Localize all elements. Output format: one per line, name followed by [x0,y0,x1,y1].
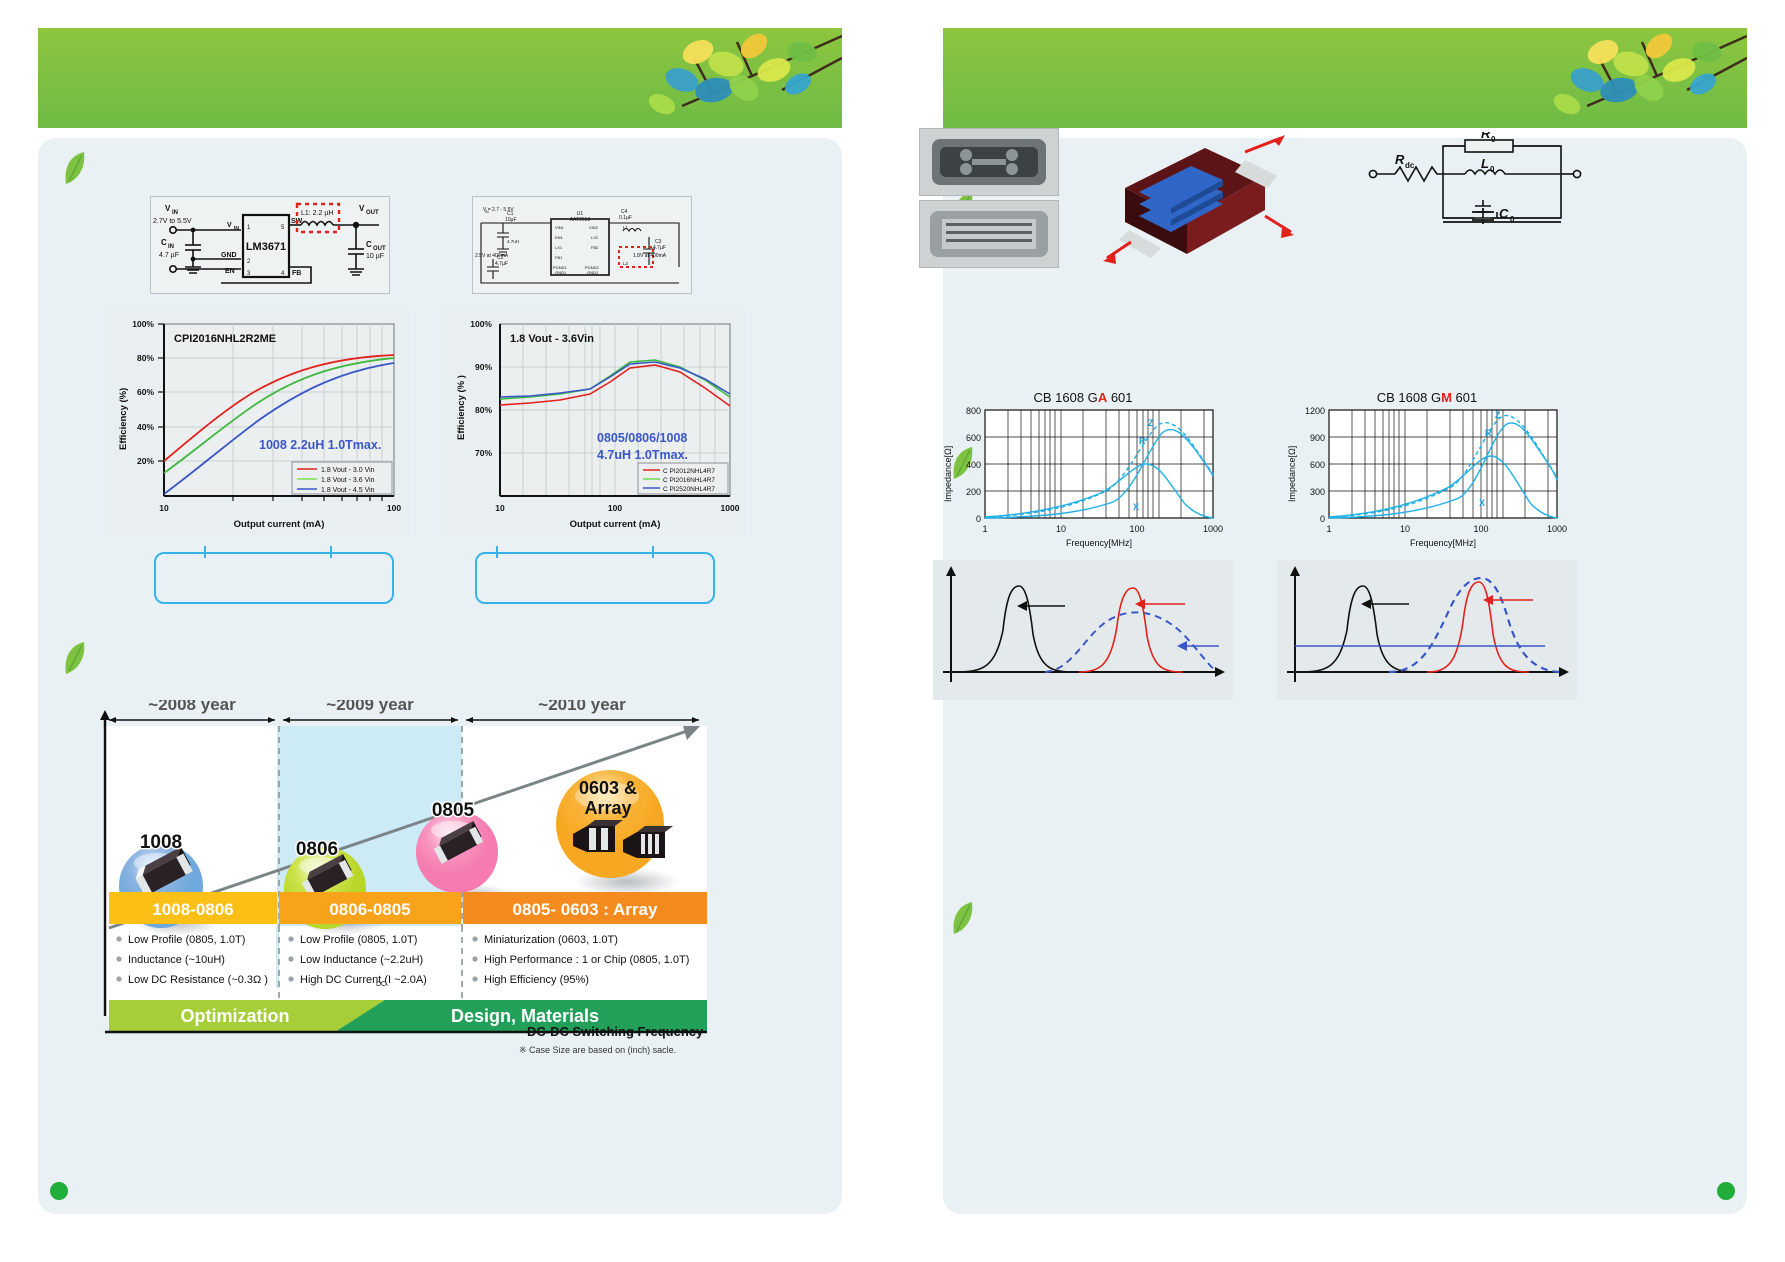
svg-text:Low Profile (0805, 1.0T): Low Profile (0805, 1.0T) [128,934,245,946]
roadmap-bubble-label-0805: 0805 [432,800,475,821]
svg-text:80%: 80% [475,405,492,415]
svg-text:600: 600 [1310,460,1325,470]
year-label-1: ~2008 year [148,700,236,714]
svg-text:4.7 µF: 4.7 µF [159,252,179,259]
svg-text:4.7µF: 4.7µF [495,261,508,267]
svg-text:GND1: GND1 [555,270,567,275]
roadmap-band-label-3: 0805- 0603 : Array [513,900,658,919]
leaf-icon-2 [62,640,88,678]
svg-text:High Efficiency (95%): High Efficiency (95%) [484,974,589,986]
roadmap-bubble-label-0806: 0806 [296,839,338,860]
equivalent-circuit-diagram: R dc R 0 L 0 C 0 [1365,132,1585,242]
svg-text:90%: 90% [475,362,492,372]
svg-text:OUT: OUT [373,246,386,252]
svg-text:60%: 60% [137,387,154,397]
svg-text:600: 600 [966,433,981,443]
page-dot-right [1717,1182,1735,1200]
efficiency-chart-4r7: 100%90%80%70% 101001000 Output current (… [440,310,746,535]
svg-text:0: 0 [1510,215,1515,224]
svg-text:Efficiency (%): Efficiency (%) [118,388,129,450]
svg-text:10µF: 10µF [505,217,517,223]
svg-text:1008 2.2uH 1.0Tmax.: 1008 2.2uH 1.0Tmax. [259,438,381,452]
svg-text:1: 1 [1326,524,1331,534]
svg-text:CB 1608 GM 601: CB 1608 GM 601 [1377,390,1477,405]
svg-text:GND2: GND2 [587,270,599,275]
svg-text:V: V [165,204,171,213]
svg-text:1.8 Vout - 3.6 Vin: 1.8 Vout - 3.6 Vin [321,477,375,484]
svg-text:Frequency[MHz]: Frequency[MHz] [1066,538,1132,548]
svg-text:1000: 1000 [1203,524,1223,534]
svg-text:100: 100 [1473,524,1488,534]
svg-text:Miniaturization (0603, 1.0T): Miniaturization (0603, 1.0T) [484,934,618,946]
svg-text:Output current (mA): Output current (mA) [570,519,661,530]
response-plot-right [1277,560,1577,700]
svg-text:C: C [161,238,167,247]
svg-text:10: 10 [159,503,169,513]
svg-text:400: 400 [966,460,981,470]
leaf-icon-5 [950,900,976,938]
svg-text:R: R [1395,152,1405,167]
svg-text:100: 100 [1129,524,1144,534]
svg-text:1.8 Vout - 3.0 Vin: 1.8 Vout - 3.0 Vin [321,467,375,474]
svg-text:Low DC Resistance (~0.3Ω ): Low DC Resistance (~0.3Ω ) [128,974,268,986]
circuit-diagram-lm3671: LM3671 1 2 3 4 5 V IN GND EN SW FB V IN … [150,196,390,294]
svg-text:V: V [359,204,365,213]
svg-text:20%: 20% [137,456,154,466]
foliage-decoration-right [1187,28,1747,128]
svg-text:X: X [1479,498,1485,508]
svg-text:FB: FB [292,270,301,277]
roadmap-bubble-label-1008: 1008 [140,832,182,853]
svg-text:DC: DC [376,981,386,988]
svg-text:0805/0806/1008: 0805/0806/1008 [597,431,687,445]
svg-text:1.8V at 400mA: 1.8V at 400mA [633,253,667,259]
svg-text:LM3671: LM3671 [246,241,286,253]
callout-tick-1a [204,546,206,558]
impedance-chart-GA601: CB 1608 GA 601 8006004002000 1101001000 … [933,390,1233,550]
svg-text:L1: 2.2 µH: L1: 2.2 µH [301,210,333,217]
page-dot-left [50,1182,68,1200]
component-photo-xray-top [919,128,1059,196]
svg-text:EN: EN [225,268,235,275]
roadmap-band-label-2: 0806-0805 [329,900,410,919]
svg-text:0: 0 [976,514,981,524]
svg-text:LX1: LX1 [555,245,563,250]
svg-text:L1: L1 [623,225,629,230]
impedance-chart-GM601: CB 1608 GM 601 12009006003000 1101001000… [1277,390,1577,550]
svg-text:Output current (mA): Output current (mA) [234,519,325,530]
roadmap-bubble-label-0603-l2: Array [584,798,631,818]
svg-text:C PI2520NHL4R7: C PI2520NHL4R7 [663,486,715,493]
foliage-decoration-left [282,28,842,128]
svg-text:4.7uH 1.0Tmax.: 4.7uH 1.0Tmax. [597,448,688,462]
roadmap-band-label-1: 1008-0806 [152,900,233,919]
svg-text:Frequency[MHz]: Frequency[MHz] [1410,538,1476,548]
svg-text:High DC Current (I ~2.0A): High DC Current (I ~2.0A) [300,974,427,986]
svg-text:Low Inductance (~2.2uH): Low Inductance (~2.2uH) [300,954,423,966]
svg-text:VIN1: VIN1 [555,225,565,230]
svg-text:AAT2610: AAT2610 [570,217,591,223]
roadmap-ribbon-label-2: Design, Materials [451,1006,599,1026]
svg-text:200: 200 [966,487,981,497]
svg-text:V: V [227,222,232,229]
svg-text:R: R [1139,436,1146,446]
svg-text:0: 0 [1320,514,1325,524]
svg-text:X: X [1133,502,1139,512]
svg-text:C: C [1499,206,1509,221]
response-plot-left [933,560,1233,700]
svg-text:OUT: OUT [366,210,379,216]
roadmap-footer-title: DC-DC Switching Frequency [527,1024,703,1039]
svg-text:L2: L2 [623,261,629,266]
roadmap-diagram: ~2008 year ~2009 year ~2010 year [95,700,715,1040]
svg-text:10: 10 [1400,524,1410,534]
roadmap-bullets-col-2: Low Profile (0805, 1.0T) Low Inductance … [288,934,426,988]
svg-text:2.5V at 400mA: 2.5V at 400mA [475,253,509,259]
roadmap-bubble-label-0603-l1: 0603 & [579,778,637,798]
svg-text:80%: 80% [137,353,154,363]
svg-text:LX2: LX2 [591,235,599,240]
roadmap-ribbon-label-1: Optimization [181,1006,290,1026]
svg-text:1000: 1000 [721,503,740,513]
svg-text:R: R [1485,428,1492,438]
svg-text:Impedance[Ω]: Impedance[Ω] [1287,446,1297,502]
svg-text:10: 10 [1056,524,1066,534]
header-band-right [943,28,1747,128]
svg-text:Z: Z [1148,418,1154,428]
svg-text:R: R [1481,132,1491,141]
svg-text:1000: 1000 [1547,524,1567,534]
header-band-left [38,28,842,128]
svg-text:dc: dc [1405,161,1415,170]
svg-text:4.7uH: 4.7uH [507,239,519,244]
callout-tick-2b [652,546,654,558]
svg-text:C PI2012NHL4R7: C PI2012NHL4R7 [663,468,715,475]
svg-text:10: 10 [495,503,505,513]
svg-text:100: 100 [387,503,401,513]
svg-text:100%: 100% [132,319,154,329]
svg-text:CPI2016NHL2R2ME: CPI2016NHL2R2ME [174,333,276,345]
svg-text:0: 0 [1491,135,1496,144]
svg-text:1: 1 [982,524,987,534]
svg-text:Z: Z [1495,410,1501,420]
svg-text:Inductance (~10uH): Inductance (~10uH) [128,954,225,966]
svg-text:40%: 40% [137,422,154,432]
svg-text:CB 1608 GA 601: CB 1608 GA 601 [1033,390,1132,405]
svg-text:Efficiency (% ): Efficiency (% ) [456,375,467,440]
svg-text:Low Profile (0805, 1.0T): Low Profile (0805, 1.0T) [300,934,417,946]
year-label-2: ~2009 year [326,700,414,714]
left-page: LM3671 1 2 3 4 5 V IN GND EN SW FB V IN … [0,0,880,1262]
component-cutaway-illustration [1095,130,1295,270]
svg-text:2.7V to 5.5V: 2.7V to 5.5V [153,218,192,225]
right-page: R dc R 0 L 0 C 0 CB 1608 GA 601 [905,0,1785,1262]
callout-tick-1b [330,546,332,558]
callout-tick-2a [496,546,498,558]
svg-text:900: 900 [1310,433,1325,443]
svg-text:GND: GND [221,252,237,259]
roadmap-footer-note: ※ Case Size are based on (inch) sacle. [519,1045,676,1056]
svg-text:C PI2016NHL4R7: C PI2016NHL4R7 [663,477,715,484]
svg-text:1200: 1200 [1305,406,1325,416]
circuit-diagram-aat2610: U1 AAT2610 V = 2.7 - 5.5V IN C1 10µF 2.5… [472,196,692,294]
svg-text:4.7µF: 4.7µF [653,245,666,251]
component-photo-xray-bottom [919,200,1059,268]
leaf-icon-1 [62,150,88,188]
svg-text:70%: 70% [475,448,492,458]
content-panel-left [38,138,842,1214]
svg-text:IN: IN [234,226,239,232]
svg-text:800: 800 [966,406,981,416]
svg-text:EN1: EN1 [555,235,564,240]
year-label-3: ~2010 year [538,700,626,714]
svg-text:100%: 100% [470,319,492,329]
svg-text:VIN2: VIN2 [589,225,599,230]
svg-text:FB2: FB2 [591,245,599,250]
svg-text:10 µF: 10 µF [366,253,384,260]
svg-text:1.8 Vout - 3.6Vin: 1.8 Vout - 3.6Vin [510,333,594,345]
svg-text:1.8 Vout - 4.5 Vin: 1.8 Vout - 4.5 Vin [321,487,375,494]
svg-text:300: 300 [1310,487,1325,497]
callout-box-2 [475,552,715,604]
efficiency-chart-1008: 100%80%60% 40%20% 10100 Output current (… [104,310,410,535]
callout-box-1 [154,552,394,604]
svg-text:0: 0 [1490,165,1495,174]
svg-text:FB1: FB1 [555,255,563,260]
svg-text:0.1µF: 0.1µF [619,215,632,221]
svg-text:IN: IN [485,210,489,214]
svg-text:Impedance[Ω]: Impedance[Ω] [943,446,953,502]
svg-text:IN: IN [172,210,178,216]
svg-text:100: 100 [608,503,622,513]
svg-text:L: L [1481,156,1489,171]
svg-text:High Performance : 1 or Chip (: High Performance : 1 or Chip (0805, 1.0T… [484,954,689,966]
svg-text:IN: IN [168,244,174,250]
svg-text:C: C [366,240,372,249]
